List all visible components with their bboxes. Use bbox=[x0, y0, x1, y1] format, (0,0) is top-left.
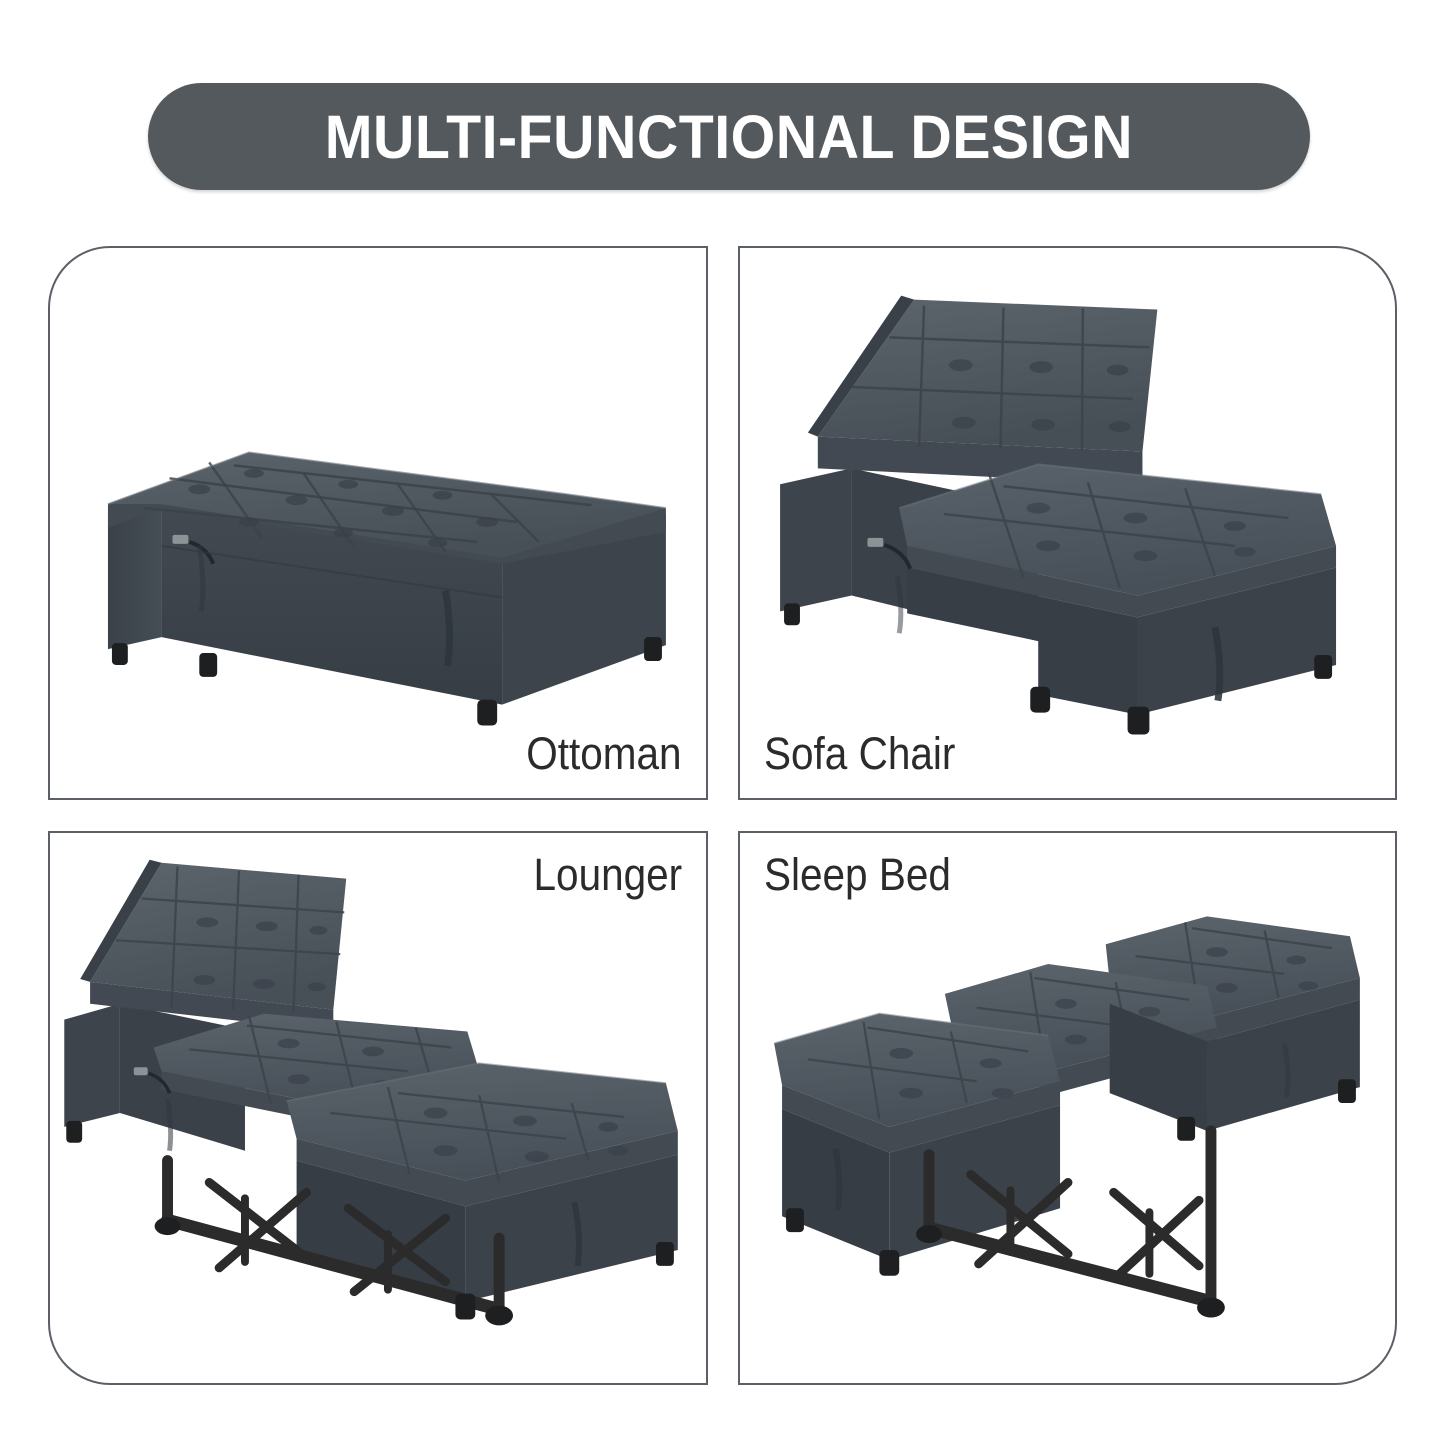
sleep-bed-illustration bbox=[740, 833, 1395, 1383]
panel-sofa-chair[interactable]: Sofa Chair bbox=[738, 246, 1397, 800]
ottoman-illustration bbox=[50, 248, 706, 798]
title-banner: MULTI-FUNCTIONAL DESIGN bbox=[148, 83, 1310, 190]
page-title: MULTI-FUNCTIONAL DESIGN bbox=[325, 102, 1133, 172]
panel-label-lounger: Lounger bbox=[533, 849, 682, 901]
panel-grid: Ottoman bbox=[48, 246, 1397, 1385]
panel-label-sofa-chair: Sofa Chair bbox=[764, 728, 955, 780]
panel-ottoman[interactable]: Ottoman bbox=[48, 246, 708, 800]
sofa-chair-illustration bbox=[740, 248, 1395, 798]
lounger-illustration bbox=[50, 833, 706, 1383]
panel-lounger[interactable]: Lounger bbox=[48, 831, 708, 1385]
panel-label-ottoman: Ottoman bbox=[527, 728, 682, 780]
panel-sleep-bed[interactable]: Sleep Bed bbox=[738, 831, 1397, 1385]
panel-label-sleep-bed: Sleep Bed bbox=[764, 849, 951, 901]
